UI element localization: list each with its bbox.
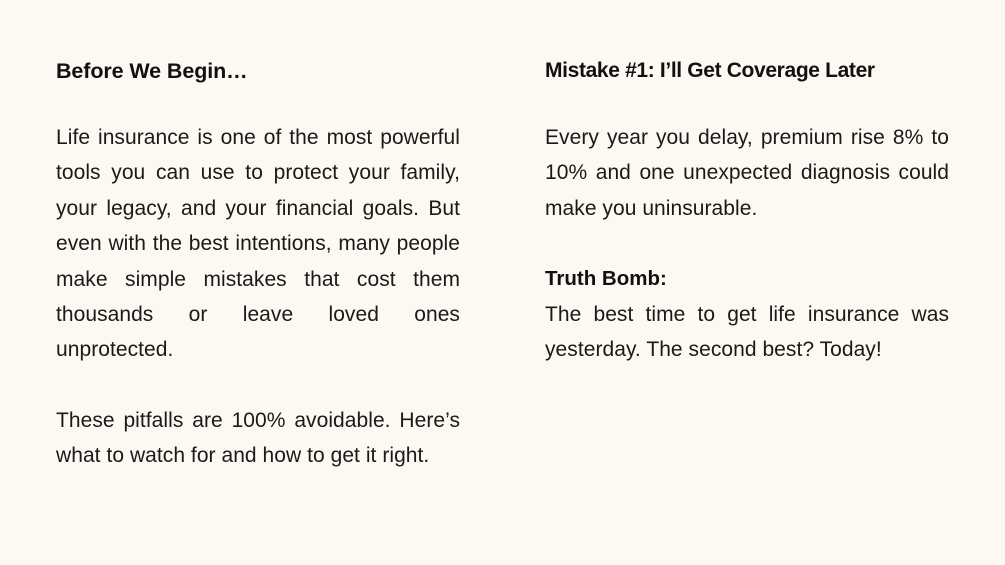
truth-bomb-label: Truth Bomb:: [545, 261, 949, 296]
left-paragraph-1: Life insurance is one of the most powerf…: [56, 120, 460, 368]
truth-bomb-callout: Truth Bomb: The best time to get life in…: [545, 261, 949, 367]
right-column: Mistake #1: I’ll Get Coverage Later Ever…: [545, 56, 949, 367]
left-column: Before We Begin… Life insurance is one o…: [56, 56, 460, 474]
right-paragraph-1: Every year you delay, premium rise 8% to…: [545, 120, 949, 226]
two-column-layout: Before We Begin… Life insurance is one o…: [56, 56, 949, 474]
left-paragraph-2: These pitfalls are 100% avoidable. Here’…: [56, 403, 460, 474]
right-column-body: Every year you delay, premium rise 8% to…: [545, 120, 949, 226]
left-column-body: Life insurance is one of the most powerf…: [56, 120, 460, 474]
right-column-heading: Mistake #1: I’ll Get Coverage Later: [545, 56, 949, 86]
slide-canvas: Before We Begin… Life insurance is one o…: [0, 0, 1005, 565]
left-column-heading: Before We Begin…: [56, 56, 460, 86]
truth-bomb-text: The best time to get life insurance was …: [545, 297, 949, 368]
